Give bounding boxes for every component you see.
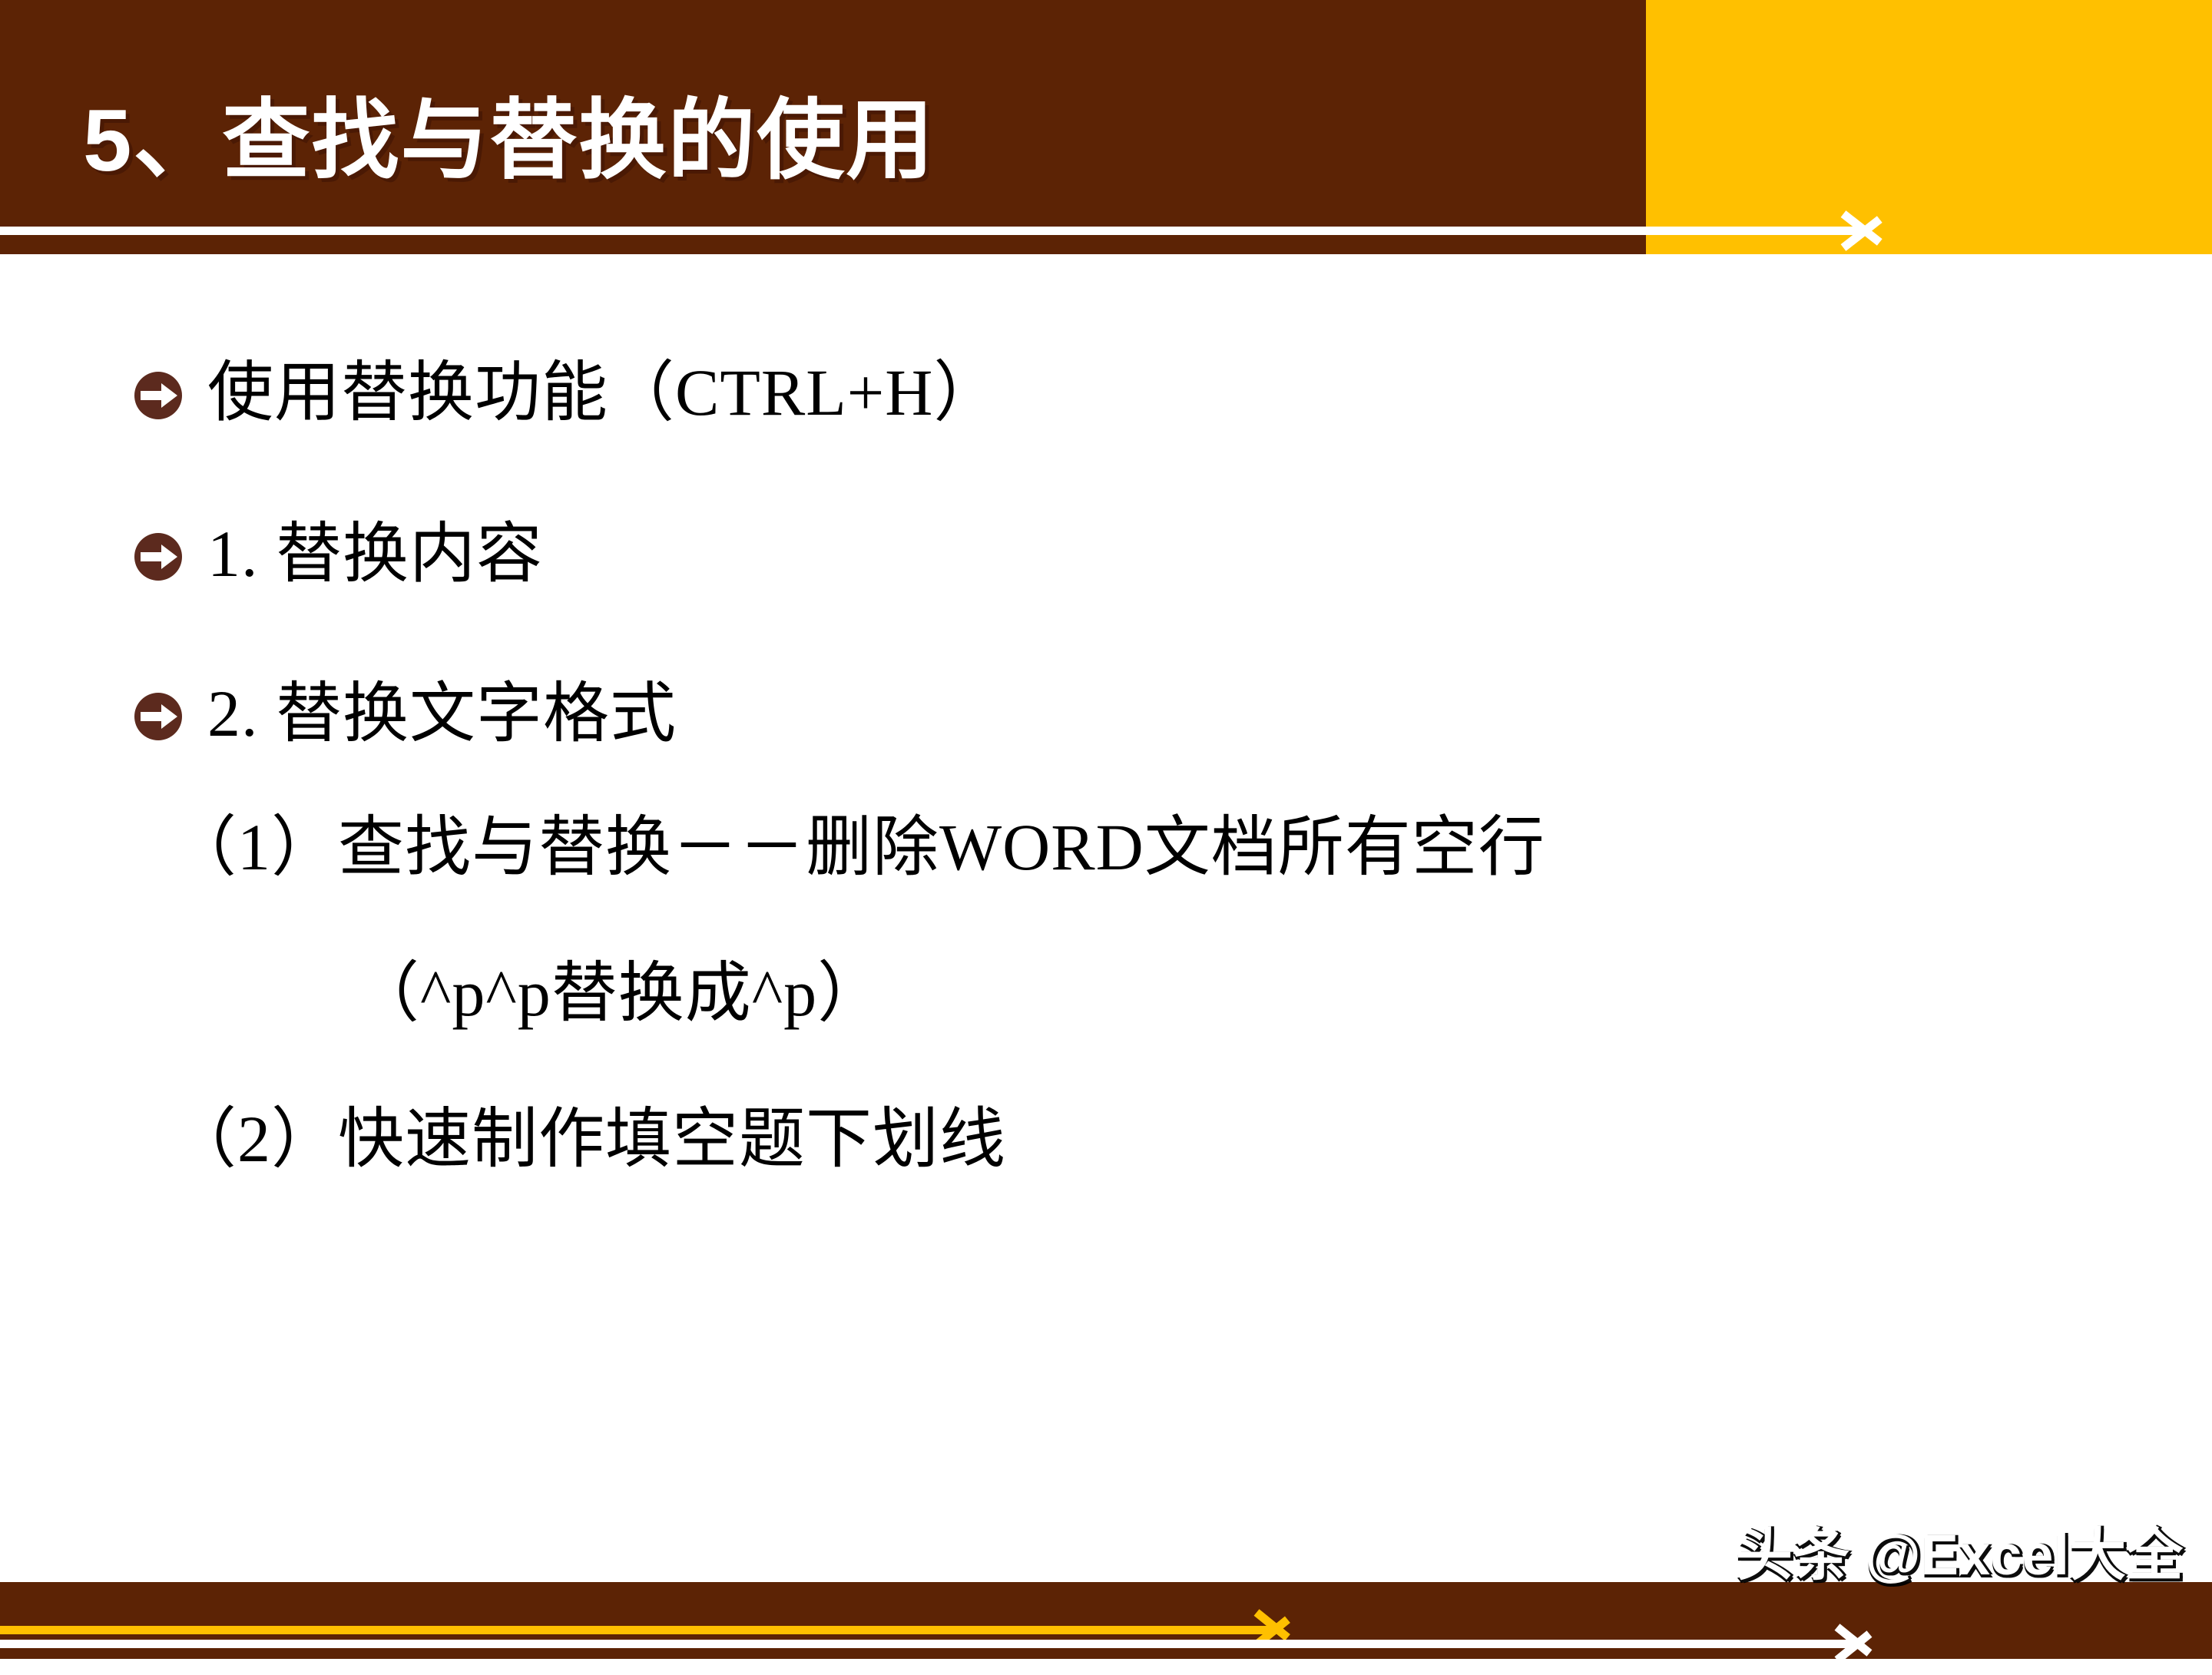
header-arrow-line — [0, 227, 1865, 235]
list-item: 使用替换功能（CTRL+H） — [131, 359, 1000, 425]
slide-content: 使用替换功能（CTRL+H） 1. 替换内容 2. 替换文字格式 （1）查找与替… — [0, 307, 2212, 1459]
arrow-right-icon — [1837, 1615, 1897, 1675]
arrow-right-icon — [1257, 1601, 1315, 1659]
page-title: 5、查找与替换的使用 — [83, 91, 935, 191]
header-divider-brown — [0, 217, 1646, 254]
footer-gold-arrow-line — [0, 1626, 1275, 1634]
watermark-label: 头条 @Excel大全 — [1736, 1527, 2183, 1584]
header-divider-gold — [1646, 217, 2212, 254]
list-item: 2. 替换文字格式 — [131, 680, 677, 746]
sub-list-item-2: （2）快速制作填空题下划线 — [171, 1106, 1006, 1172]
sub-list-item-note: （^p^p替换成^p） — [353, 960, 884, 1026]
arrow-right-icon — [1843, 200, 1903, 260]
circle-arrow-right-bullet-icon — [131, 529, 186, 584]
slide-header: 5、查找与替换的使用 — [0, 0, 2212, 223]
list-item-label: 1. 替换内容 — [207, 521, 543, 587]
header-gold-block — [1646, 0, 2212, 223]
sub-list-item-1: （1）查找与替换－－删除WORD文档所有空行 — [171, 814, 1545, 880]
header-divider-row — [0, 217, 2212, 263]
circle-arrow-right-bullet-icon — [131, 368, 186, 423]
list-item-label: 2. 替换文字格式 — [207, 680, 677, 746]
footer-white-arrow-line — [0, 1640, 1856, 1648]
circle-arrow-right-bullet-icon — [131, 689, 186, 744]
list-item: 1. 替换内容 — [131, 521, 543, 587]
list-item-label: 使用替换功能（CTRL+H） — [207, 359, 1000, 425]
